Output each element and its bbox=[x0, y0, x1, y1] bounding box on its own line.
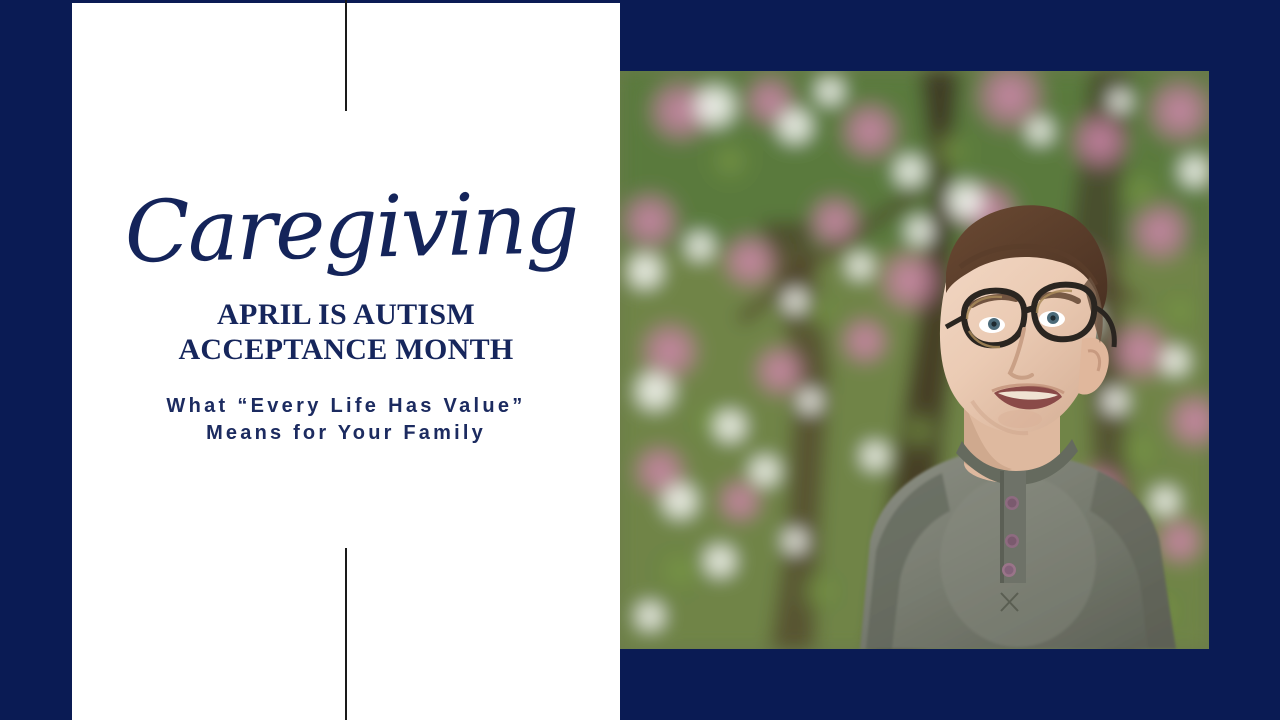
portrait-photo-image bbox=[620, 71, 1209, 649]
subheadline-line-2: Means for Your Family bbox=[72, 420, 620, 447]
subheadline-line-1: What “Every Life Has Value” bbox=[72, 393, 620, 420]
headline: APRIL IS AUTISM ACCEPTANCE MONTH bbox=[72, 297, 620, 367]
headline-line-1: APRIL IS AUTISM bbox=[72, 297, 620, 332]
vertical-rule-top-icon bbox=[345, 0, 347, 111]
headline-line-2: ACCEPTANCE MONTH bbox=[72, 332, 620, 367]
text-block: Caregiving APRIL IS AUTISM ACCEPTANCE MO… bbox=[72, 186, 620, 447]
portrait-photo bbox=[620, 71, 1209, 649]
subheadline: What “Every Life Has Value” Means for Yo… bbox=[72, 393, 620, 447]
poster-canvas: Caregiving APRIL IS AUTISM ACCEPTANCE MO… bbox=[0, 0, 1280, 720]
script-title: Caregiving bbox=[71, 180, 621, 276]
vertical-rule-bottom-icon bbox=[345, 548, 347, 720]
